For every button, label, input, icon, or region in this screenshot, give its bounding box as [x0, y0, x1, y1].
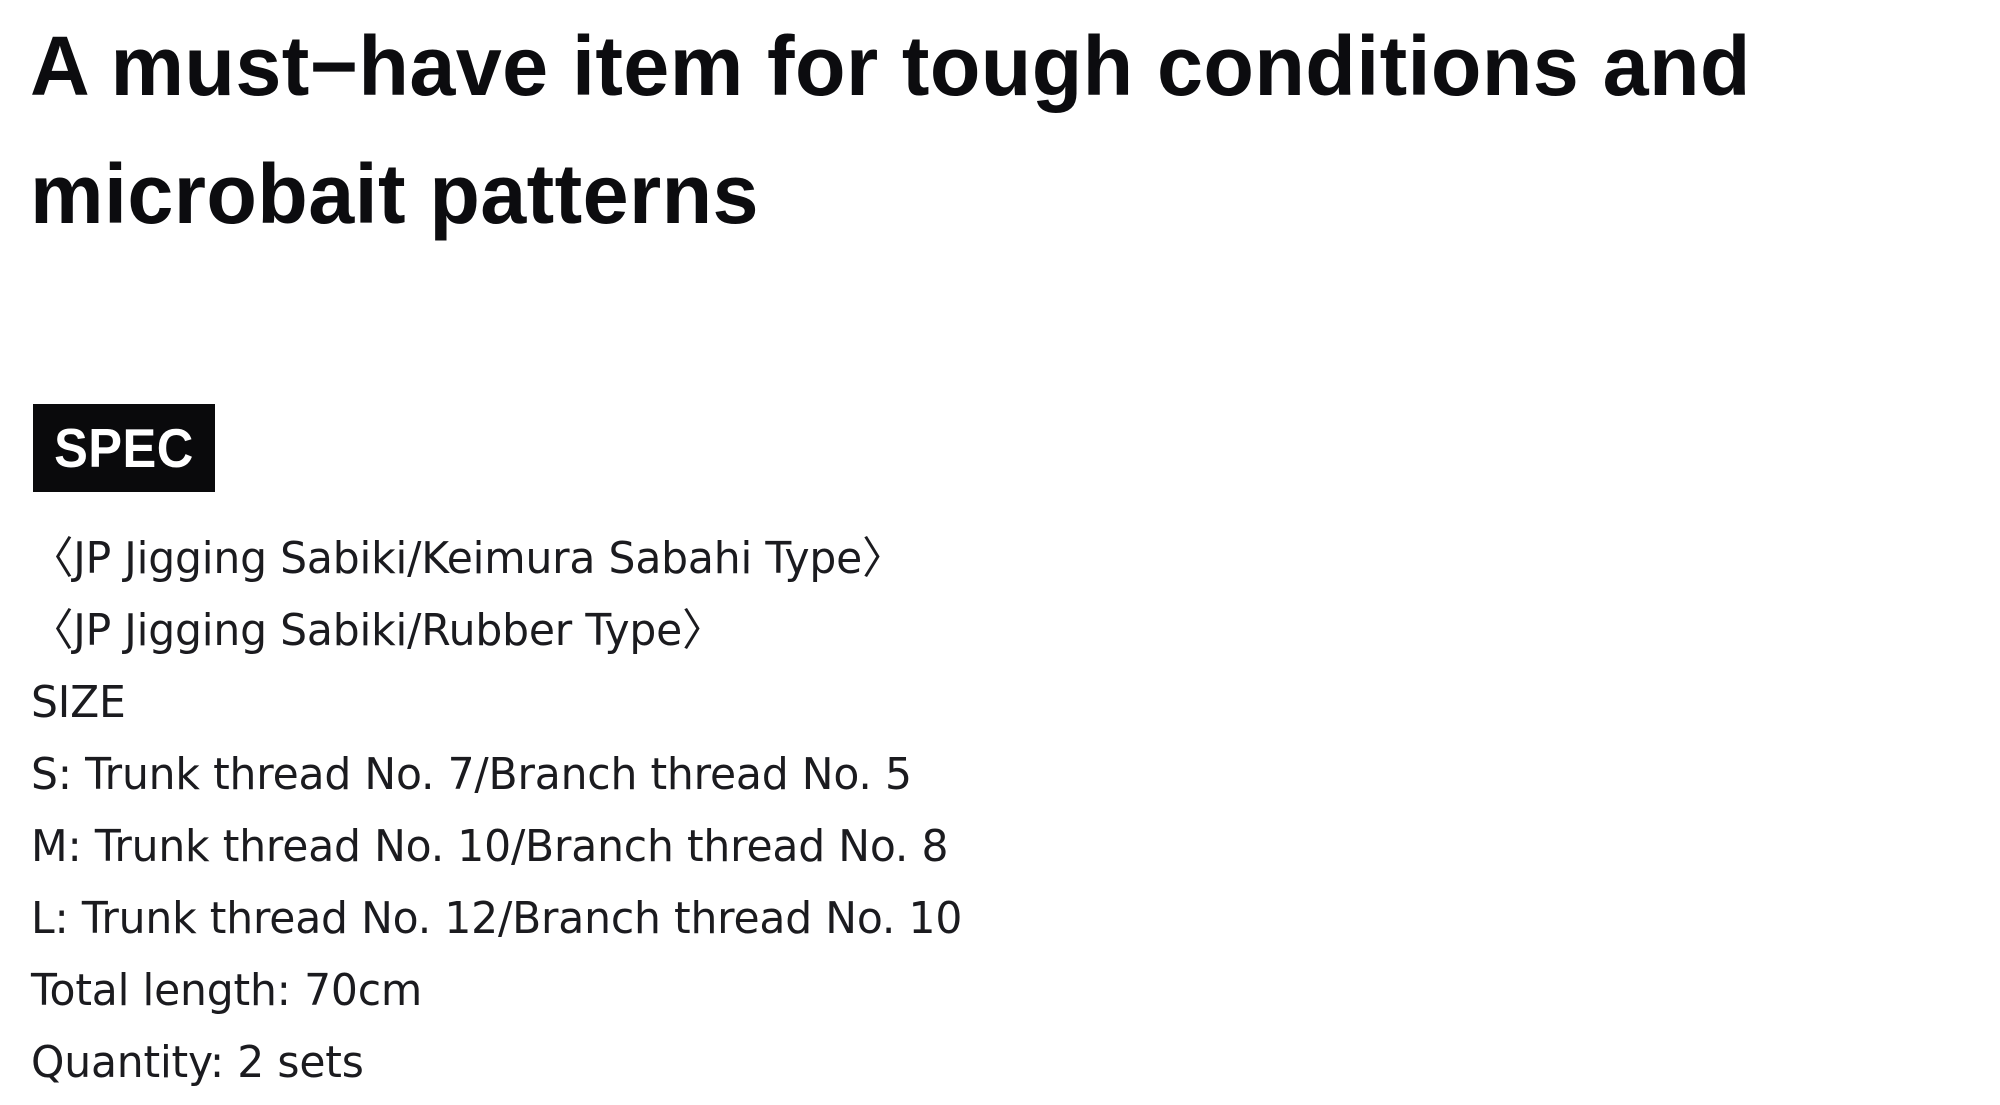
spec-badge: SPEC — [33, 404, 215, 492]
spec-badge-label: SPEC — [54, 421, 194, 476]
spec-detail-list: 〈JP Jigging Sabiki/Keimura Sabahi Type〉 … — [31, 523, 1971, 1099]
spec-line-size-m: M: Trunk thread No. 10/Branch thread No.… — [31, 811, 1903, 883]
product-spec-page: A must−have item for tough conditions an… — [0, 0, 2000, 1105]
spec-line-quantity: Quantity: 2 sets — [31, 1027, 1903, 1099]
spec-line-size-s: S: Trunk thread No. 7/Branch thread No. … — [31, 739, 1903, 811]
spec-line-variant-keimura: 〈JP Jigging Sabiki/Keimura Sabahi Type〉 — [31, 523, 1903, 595]
spec-line-total-length: Total length: 70cm — [31, 955, 1903, 1027]
spec-line-size-l: L: Trunk thread No. 12/Branch thread No.… — [31, 883, 1903, 955]
page-title-line-1: A must−have item for tough conditions an… — [30, 2, 1961, 130]
page-title-line-2: microbait patterns — [30, 130, 1961, 258]
spec-line-size-heading: SIZE — [31, 667, 1903, 739]
spec-line-variant-rubber: 〈JP Jigging Sabiki/Rubber Type〉 — [31, 595, 1903, 667]
page-title: A must−have item for tough conditions an… — [30, 2, 1961, 258]
